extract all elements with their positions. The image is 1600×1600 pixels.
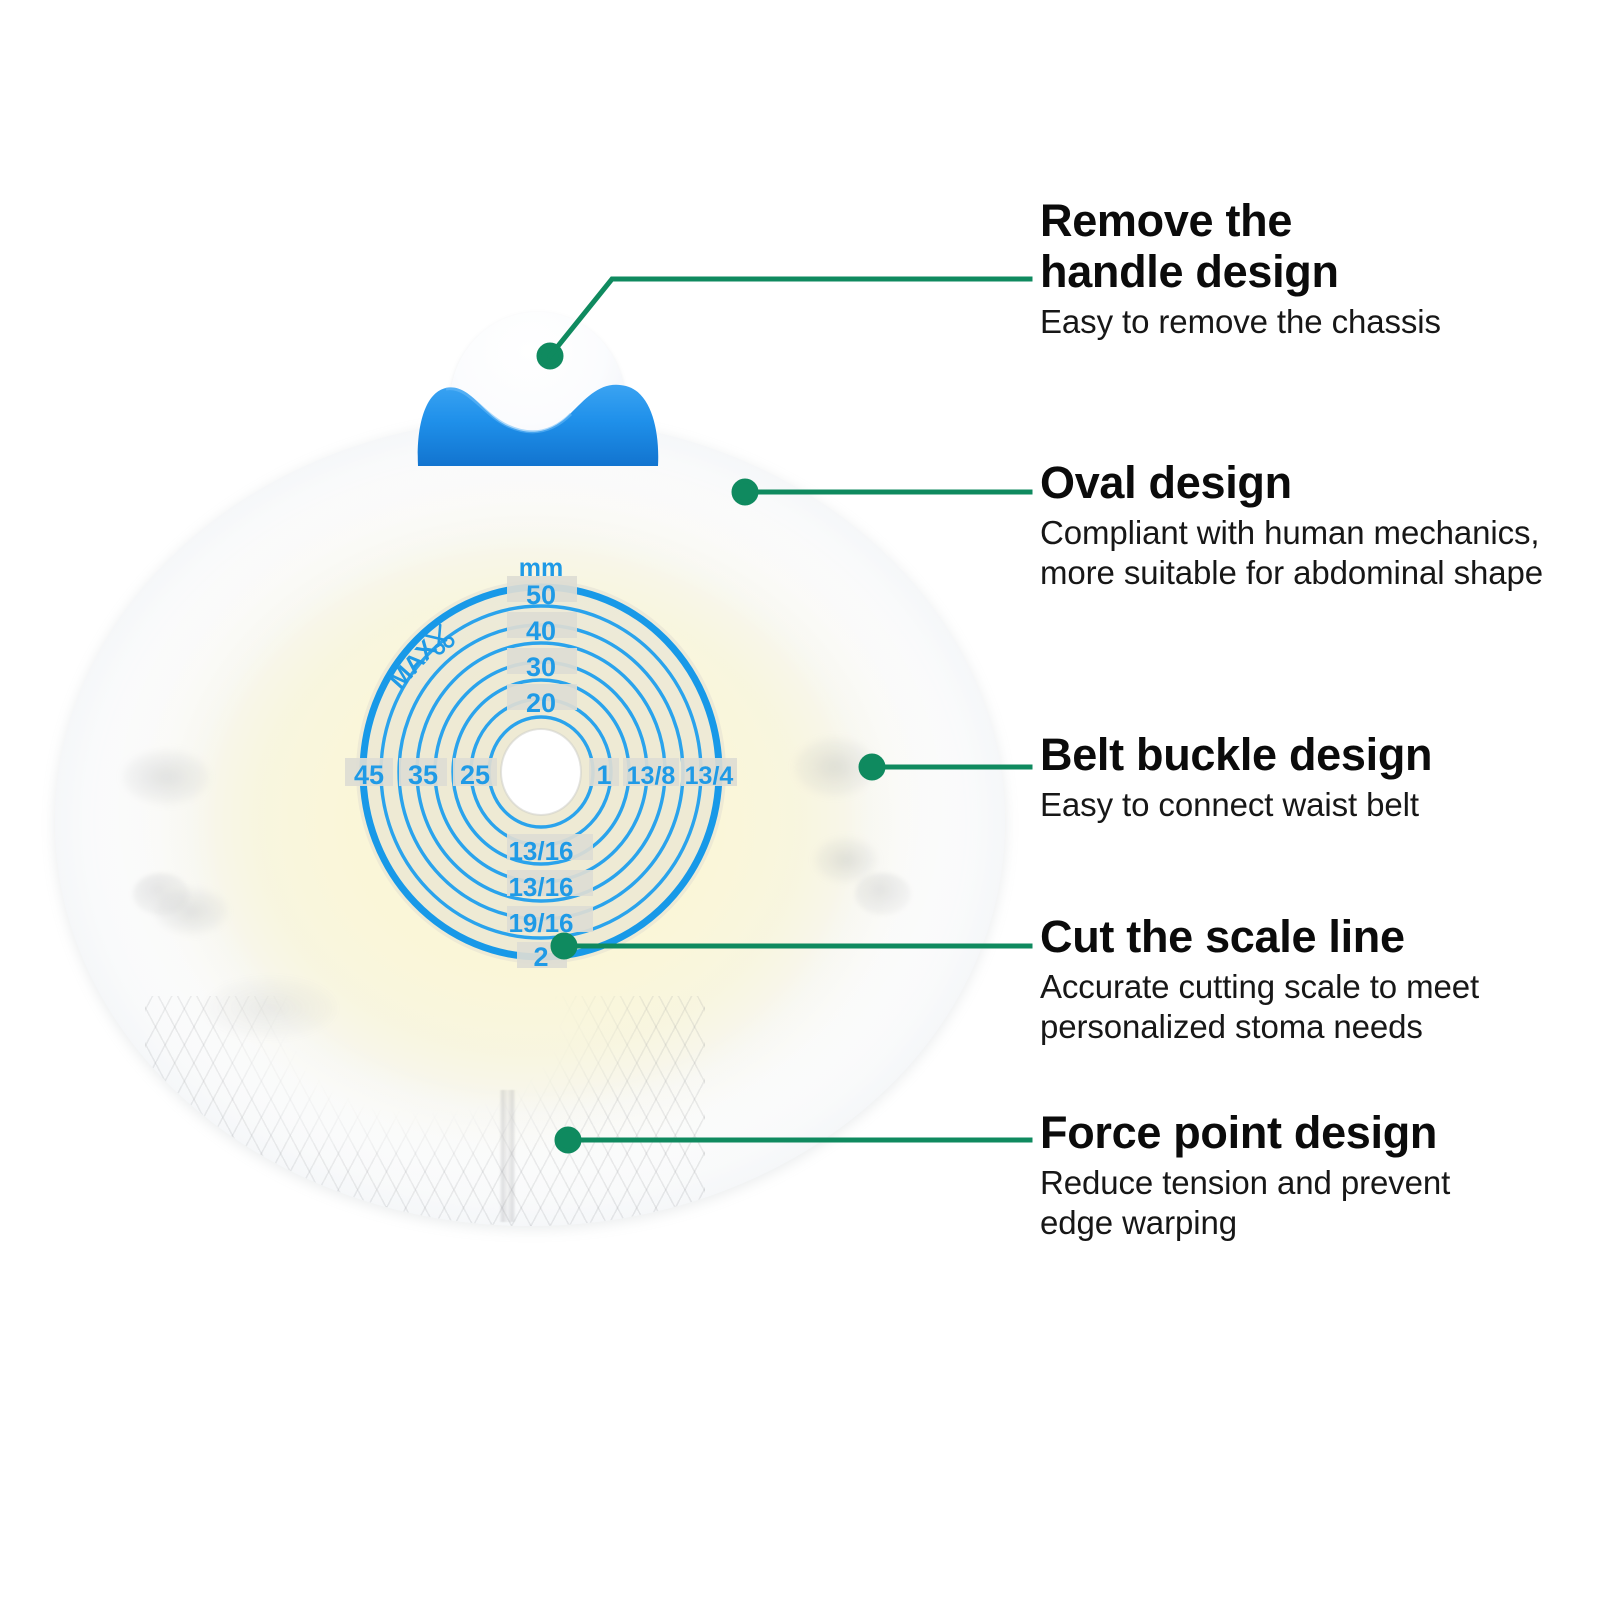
callout-belt-buckle-design: Belt buckle design Easy to connect waist… xyxy=(1040,730,1600,825)
scale-tick-mm-45: 45 xyxy=(354,760,384,790)
callout-oval-design: Oval design Compliant with human mechani… xyxy=(1040,458,1600,593)
callout-subtitle: Reduce tension and preventedge warping xyxy=(1040,1163,1600,1244)
callout-subtitle-line-2: more suitable for abdominal shape xyxy=(1040,554,1543,591)
callout-title-line-1: Remove the xyxy=(1040,195,1292,246)
film-smudge xyxy=(123,750,209,804)
scale-tick-in-19-16: 19/16 xyxy=(508,908,573,938)
scale-tick-mm-40: 40 xyxy=(526,616,556,646)
callout-title: Remove thehandle design xyxy=(1040,196,1600,298)
scale-tick-in-1-3-4: 13/4 xyxy=(685,762,734,790)
callout-title: Force point design xyxy=(1040,1108,1600,1159)
callout-subtitle-line-1: Compliant with human mechanics, xyxy=(1040,514,1539,551)
film-smudge xyxy=(795,738,875,796)
callout-subtitle-line-2: personalized stoma needs xyxy=(1040,1008,1423,1045)
scale-tick-in-1-3-8: 13/8 xyxy=(627,762,676,790)
film-smudge xyxy=(205,978,335,1038)
blue-release-handle xyxy=(412,362,664,470)
film-smudge xyxy=(815,838,877,882)
callout-subtitle: Accurate cutting scale to meetpersonaliz… xyxy=(1040,967,1600,1048)
callout-title-line-2: handle design xyxy=(1040,246,1339,297)
callout-subtitle: Easy to remove the chassis xyxy=(1040,302,1600,342)
callout-subtitle-line-2: edge warping xyxy=(1040,1204,1237,1241)
callout-force-point-design: Force point design Reduce tension and pr… xyxy=(1040,1108,1600,1243)
callout-title: Belt buckle design xyxy=(1040,730,1600,781)
callout-title: Cut the scale line xyxy=(1040,912,1600,963)
callout-subtitle-line-1: Accurate cutting scale to meet xyxy=(1040,968,1479,1005)
scale-tick-mm-25: 25 xyxy=(460,760,490,790)
scale-tick-in-13-16-b: 13/16 xyxy=(508,872,573,902)
scale-tick-mm-20: 20 xyxy=(526,688,556,718)
scale-tick-mm-35: 35 xyxy=(408,760,438,790)
callout-remove-the-handle-design: Remove thehandle design Easy to remove t… xyxy=(1040,196,1600,342)
scale-ring-group: mm 50 40 30 20 45 35 25 1 13/8 13/4 xyxy=(345,562,737,972)
film-smudge xyxy=(155,888,227,934)
callout-subtitle-line-1: Reduce tension and prevent xyxy=(1040,1164,1450,1201)
scale-unit-label: mm xyxy=(519,562,563,582)
callout-subtitle: Compliant with human mechanics,more suit… xyxy=(1040,513,1600,594)
scale-tick-mm-50: 50 xyxy=(526,580,556,610)
scale-tick-in-2: 2 xyxy=(533,942,548,972)
scale-tick-mm-30: 30 xyxy=(526,652,556,682)
callout-cut-the-scale-line: Cut the scale line Accurate cutting scal… xyxy=(1040,912,1600,1047)
product-illustration: mm 50 40 30 20 45 35 25 1 13/8 13/4 xyxy=(55,300,1005,1250)
scale-tick-in-13-16-a: 13/16 xyxy=(508,836,573,866)
cutting-scale-guide: mm 50 40 30 20 45 35 25 1 13/8 13/4 xyxy=(331,562,751,982)
callout-title: Oval design xyxy=(1040,458,1600,509)
infographic-canvas: mm 50 40 30 20 45 35 25 1 13/8 13/4 xyxy=(0,0,1600,1600)
scale-tick-in-1: 1 xyxy=(596,760,611,790)
belt-buckle-tab-right xyxy=(855,873,911,915)
callout-subtitle: Easy to connect waist belt xyxy=(1040,785,1600,825)
